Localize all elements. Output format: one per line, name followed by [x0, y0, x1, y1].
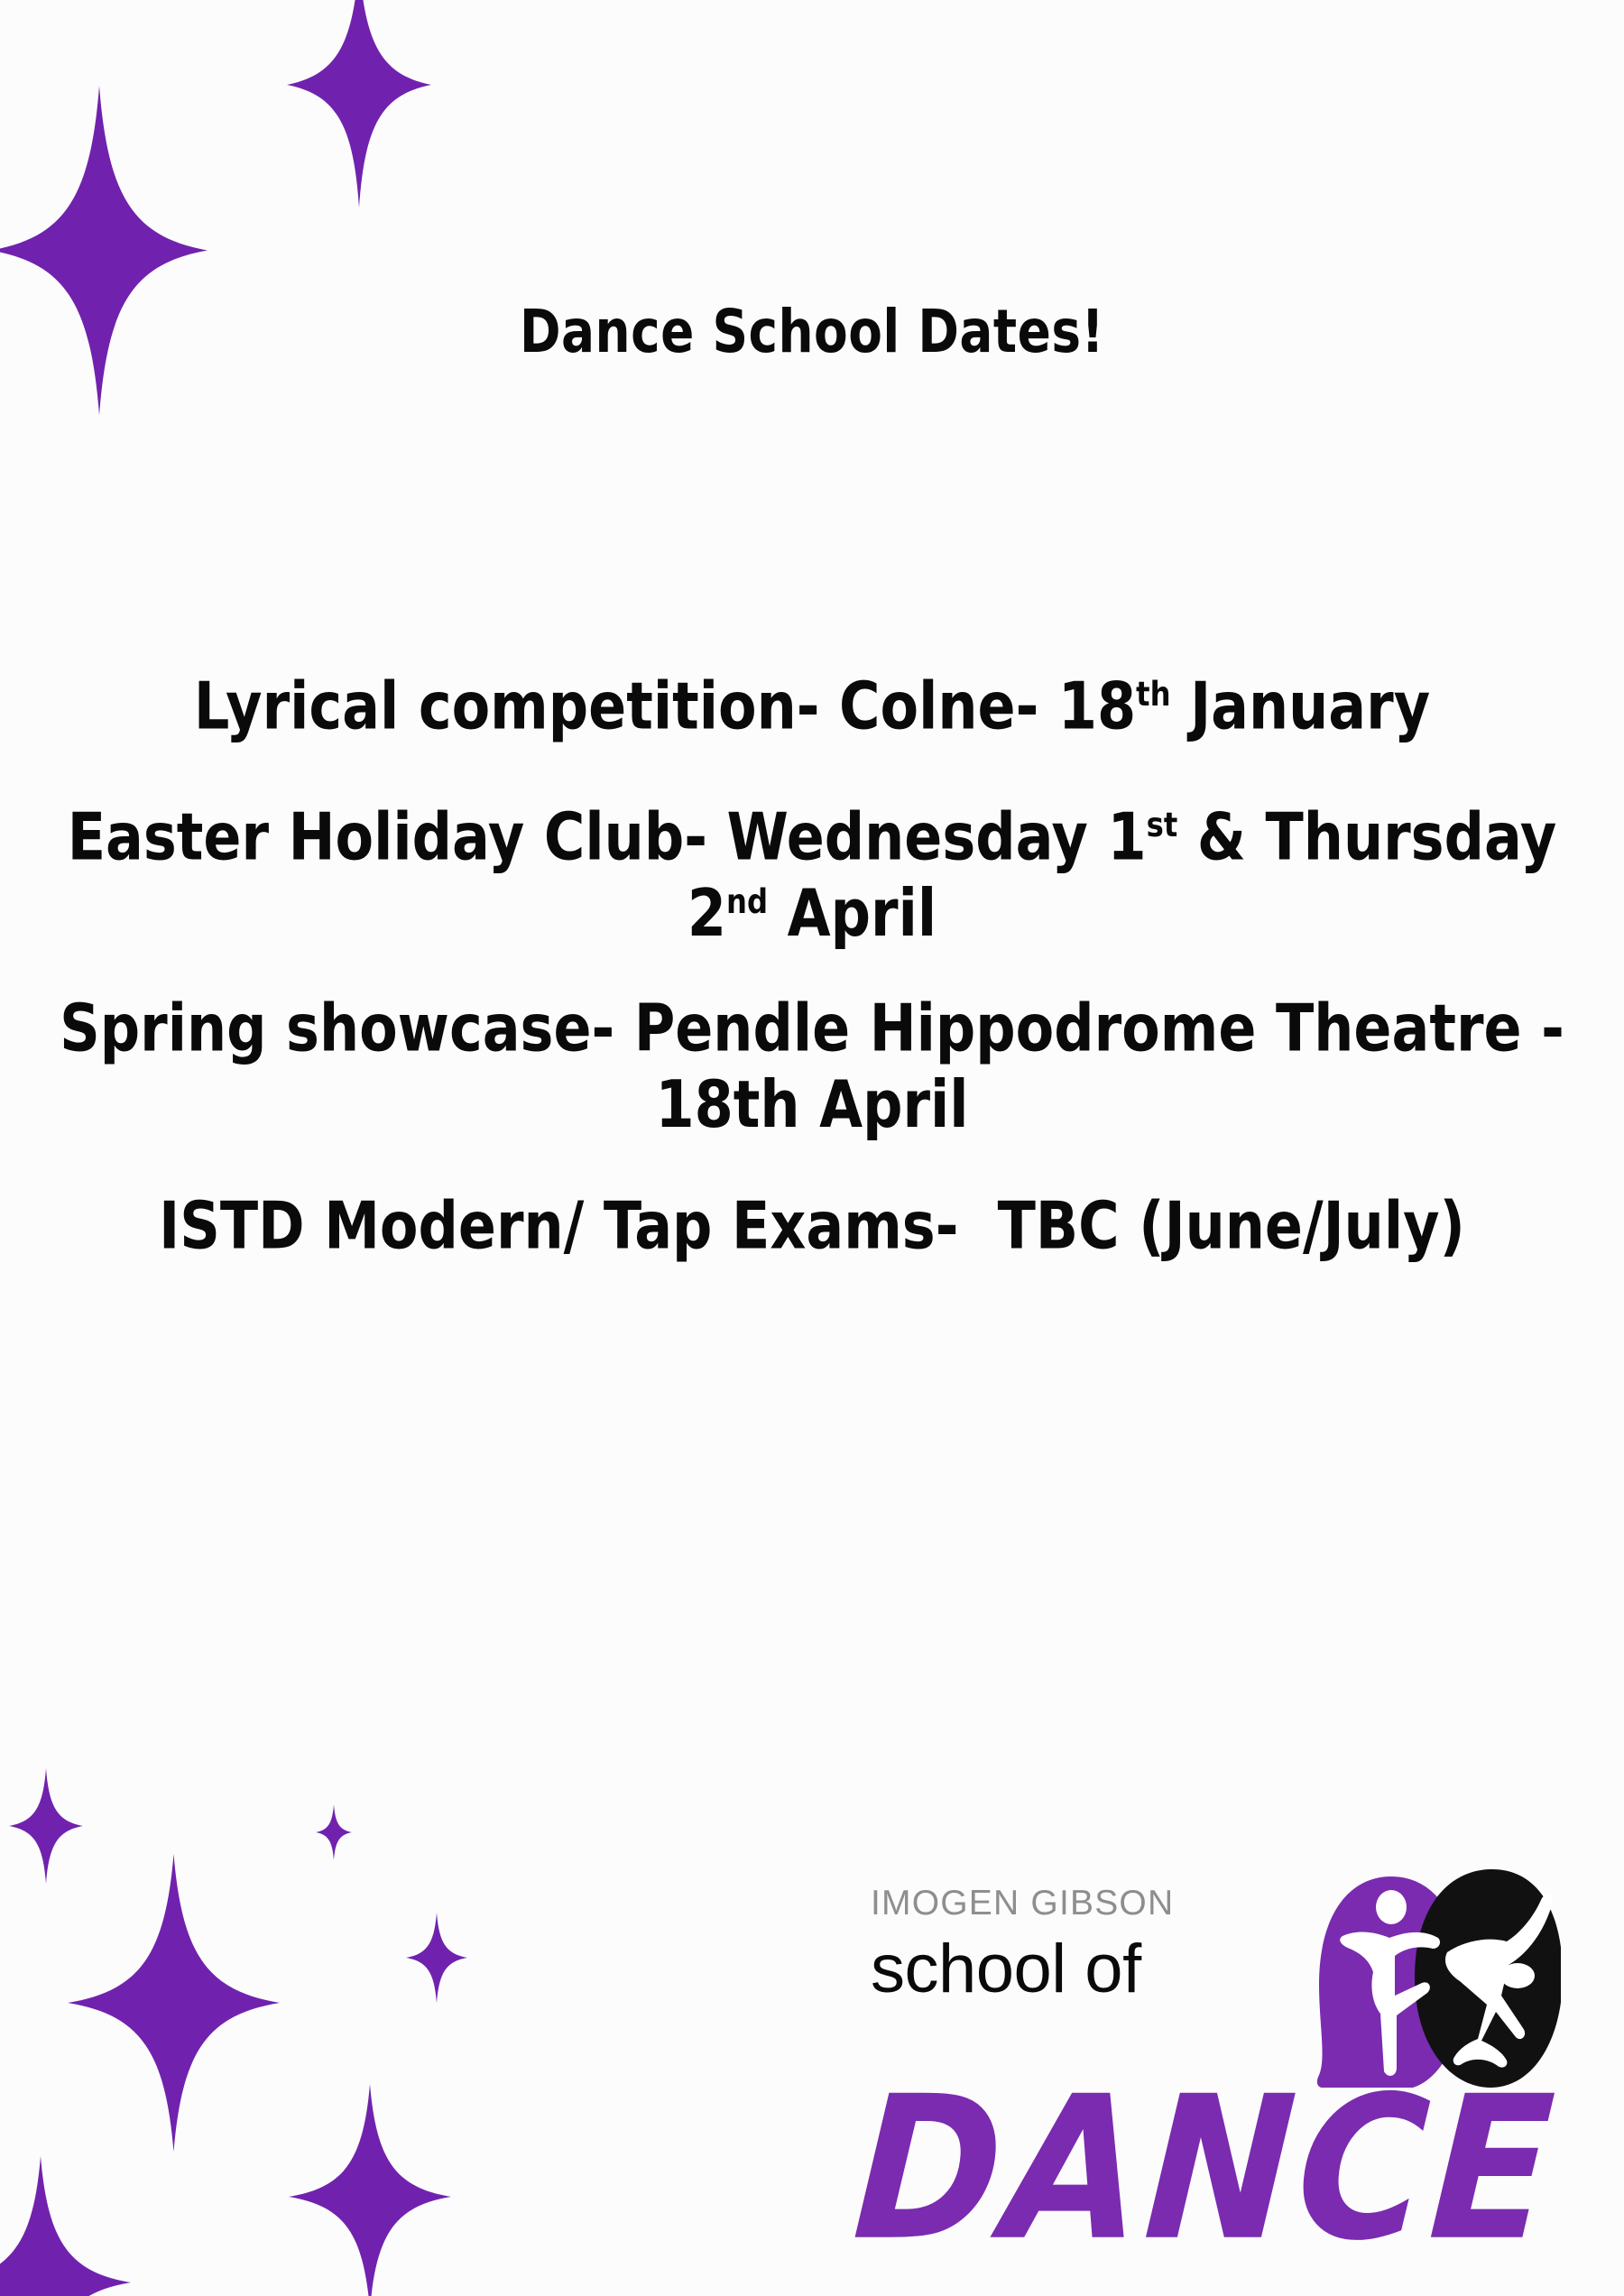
event-line: 18th April — [54, 1066, 1570, 1143]
event-text: 18th April — [655, 1066, 968, 1143]
event-line: Spring showcase- Pendle Hippodrome Theat… — [54, 990, 1570, 1066]
sparkle-bottom-left-2-icon — [0, 2156, 131, 2296]
sparkle-top-left-small-icon — [287, 0, 431, 207]
event-text: January — [1171, 668, 1431, 744]
poster-canvas: Dance School Dates! Lyrical competition-… — [0, 0, 1624, 2296]
event-spring-showcase: Spring showcase- Pendle Hippodrome Theat… — [54, 990, 1570, 1143]
event-istd-exams: ISTD Modern/ Tap Exams- TBC (June/July) — [54, 1187, 1570, 1264]
page-title: Dance School Dates! — [16, 298, 1608, 367]
sparkle-bottom-micro-1-icon — [316, 1804, 352, 1860]
event-text: Spring showcase- Pendle Hippodrome Theat… — [60, 990, 1564, 1066]
event-list: Lyrical competition- Colne- 18th January… — [54, 668, 1570, 1253]
event-line: ISTD Modern/ Tap Exams- TBC (June/July) — [54, 1187, 1570, 1264]
logo-wordmark-top: IMOGEN GIBSON school of — [871, 1886, 1295, 2006]
logo-line-dance: DANCE — [849, 2070, 1565, 2269]
sparkle-bottom-med-icon — [289, 2084, 451, 2296]
event-text: Easter Holiday Club- Wednesday 1 — [68, 798, 1147, 875]
event-line: Lyrical competition- Colne- 18th January — [54, 668, 1570, 744]
event-line: Easter Holiday Club- Wednesday 1st & Thu… — [54, 798, 1570, 875]
sparkle-bottom-small-1-icon — [406, 1913, 467, 2003]
event-text: April — [768, 875, 937, 952]
sparkle-bottom-large-icon — [68, 1854, 280, 2152]
event-text: 2 — [687, 875, 726, 952]
event-text: & Thursday — [1177, 798, 1556, 875]
ordinal-suffix: th — [1136, 674, 1170, 714]
ordinal-suffix: st — [1147, 806, 1178, 845]
event-lyrical-competition: Lyrical competition- Colne- 18th January — [54, 668, 1570, 744]
school-logo: IMOGEN GIBSON school of D — [871, 1886, 1556, 2264]
event-text: ISTD Modern/ Tap Exams- TBC (June/July) — [159, 1187, 1465, 1264]
logo-line-school-of: school of — [871, 1933, 1295, 2006]
event-text: Lyrical competition- Colne- 18 — [194, 668, 1136, 744]
event-easter-holiday-club: Easter Holiday Club- Wednesday 1st & Thu… — [54, 798, 1570, 952]
logo-line-imogen-gibson: IMOGEN GIBSON — [871, 1886, 1295, 1921]
ordinal-suffix: nd — [726, 881, 768, 921]
event-line: 2nd April — [54, 875, 1570, 952]
